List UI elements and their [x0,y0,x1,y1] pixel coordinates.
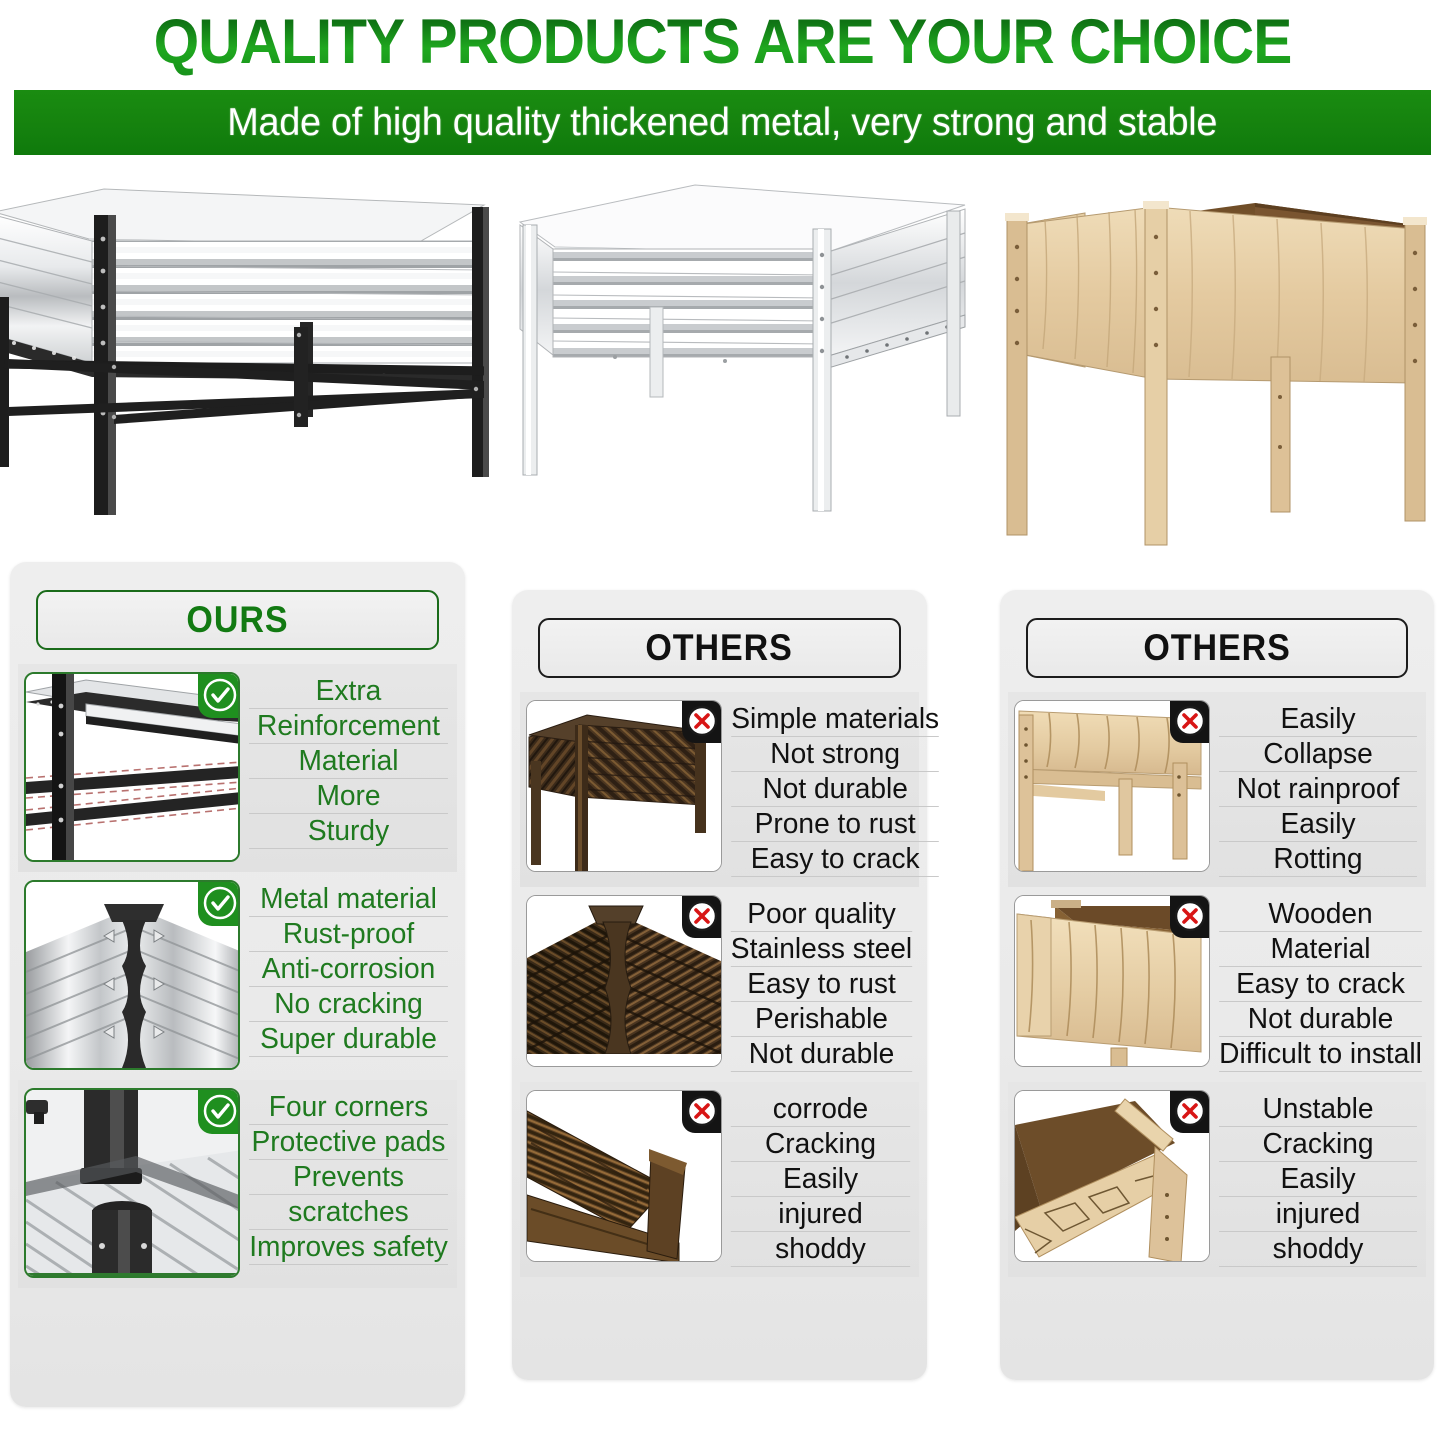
feature-row: scratches [249,1195,448,1230]
defect-row: shoddy [1219,1232,1417,1267]
feature-block: Extra Reinforcement Material More Sturdy [18,664,457,872]
defect-row: Easy to rust [731,967,912,1002]
defect-row: Poor quality [731,897,912,932]
feature-row: Improves safety [249,1230,448,1265]
thumb-cracked-wooden-corner [1014,1090,1210,1262]
defect-row: Easily [1219,807,1417,842]
defect-row: injured [1219,1197,1417,1232]
defect-rows: Wooden Material Easy to crack Not durabl… [1210,895,1425,1072]
defect-row: Stainless steel [731,932,912,967]
panel-others-wood-title: OTHERS [1026,618,1408,678]
defect-row: Rotting [1219,842,1417,877]
panel-others-wood-title-wrap: OTHERS [1000,590,1434,692]
defect-row: Easy to crack [731,842,939,877]
feature-row: Extra [249,674,448,709]
panel-others-metal-blocks: Simple materials Not strong Not durable … [512,692,927,1277]
defect-block: Wooden Material Easy to crack Not durabl… [1008,887,1426,1082]
defect-row: Easy to crack [1219,967,1422,1002]
defect-block: corrode Cracking Easily injured shoddy [520,1082,919,1277]
thumb-metal-corner [24,880,240,1070]
panel-others-metal: OTHERS [512,590,927,1380]
defect-block: Poor quality Stainless steel Easy to rus… [520,887,919,1082]
defect-row: Unstable [1219,1092,1417,1127]
defect-block: Unstable Cracking Easily injured shoddy [1008,1082,1426,1277]
thumb-corner-protective-pad [24,1088,240,1278]
defect-rows: Poor quality Stainless steel Easy to rus… [722,895,915,1072]
feature-rows: Extra Reinforcement Material More Sturdy [240,672,451,849]
thumb-reinforcement-bar [24,672,240,862]
defect-row: Simple materials [731,702,939,737]
defect-row: Not durable [731,772,939,807]
panel-ours-title-wrap: OURS [10,562,465,664]
defect-block: Easily Collapse Not rainproof Easily Rot… [1008,692,1426,887]
defect-row: Cracking [1219,1127,1417,1162]
defect-row: Easily [1219,1162,1417,1197]
product-image-metal-black-frame [0,167,494,547]
panel-others-wood-blocks: Easily Collapse Not rainproof Easily Rot… [1000,692,1434,1277]
feature-row: Super durable [249,1022,448,1057]
panel-others-metal-title-wrap: OTHERS [512,590,927,692]
defect-row: Not rainproof [1219,772,1417,807]
defect-row: Not durable [1219,1002,1422,1037]
panel-ours-title: OURS [36,590,439,650]
feature-row: Anti-corrosion [249,952,448,987]
defect-row: Wooden [1219,897,1422,932]
feature-rows: Four corners Protective pads Prevents sc… [240,1088,451,1265]
thumb-cracked-wood-panel-legs [1014,700,1210,872]
feature-block: Four corners Protective pads Prevents sc… [18,1080,457,1288]
defect-rows: corrode Cracking Easily injured shoddy [722,1090,913,1267]
defect-row: Collapse [1219,737,1417,772]
feature-row: Material [249,744,448,779]
defect-row: shoddy [731,1232,910,1267]
defect-row: corrode [731,1092,910,1127]
defect-rows: Unstable Cracking Easily injured shoddy [1210,1090,1420,1267]
product-photo-strip [0,167,1445,562]
defect-row: Not strong [731,737,939,772]
feature-row: Sturdy [249,814,448,849]
product-image-wooden-planter [985,167,1445,562]
feature-row: Prevents [249,1160,448,1195]
defect-rows: Simple materials Not strong Not durable … [722,700,942,877]
defect-row: Prone to rust [731,807,939,842]
panel-others-wood-title-text: OTHERS [1143,627,1290,669]
product-image-metal-white-frame [495,167,995,527]
subtitle-banner: Made of high quality thickened metal, ve… [14,90,1431,155]
defect-row: Difficult to install [1219,1037,1422,1072]
panel-others-metal-title: OTHERS [538,618,901,678]
subtitle-text: Made of high quality thickened metal, ve… [228,101,1218,145]
feature-row: More [249,779,448,814]
feature-block: Metal material Rust-proof Anti-corrosion… [18,872,457,1080]
feature-row: No cracking [249,987,448,1022]
defect-row: Easily [731,1162,910,1197]
defect-block: Simple materials Not strong Not durable … [520,692,919,887]
defect-rows: Easily Collapse Not rainproof Easily Rot… [1210,700,1420,877]
panel-ours: OURS [10,562,465,1407]
panel-others-wood: OTHERS [1000,590,1434,1380]
thumb-rusty-metal-corner [526,895,722,1067]
defect-row: Not durable [731,1037,912,1072]
comparison-panels: OURS [0,562,1445,1407]
thumb-rusty-metal-bed-legs [526,700,722,872]
defect-row: Easily [1219,702,1417,737]
feature-row: Four corners [249,1090,448,1125]
defect-row: Cracking [731,1127,910,1162]
feature-row: Protective pads [249,1125,448,1160]
panel-ours-title-text: OURS [186,599,288,641]
feature-row: Rust-proof [249,917,448,952]
defect-row: Perishable [731,1002,912,1037]
feature-row: Metal material [249,882,448,917]
feature-row: Reinforcement [249,709,448,744]
defect-row: Material [1219,932,1422,967]
thumb-corroded-metal-edge [526,1090,722,1262]
panel-ours-blocks: Extra Reinforcement Material More Sturdy [10,664,465,1288]
panel-others-metal-title-text: OTHERS [646,627,793,669]
defect-row: injured [731,1197,910,1232]
thumb-wooden-box-panel [1014,895,1210,1067]
page-title: QUALITY PRODUCTS ARE YOUR CHOICE [51,0,1395,78]
feature-rows: Metal material Rust-proof Anti-corrosion… [240,880,451,1057]
